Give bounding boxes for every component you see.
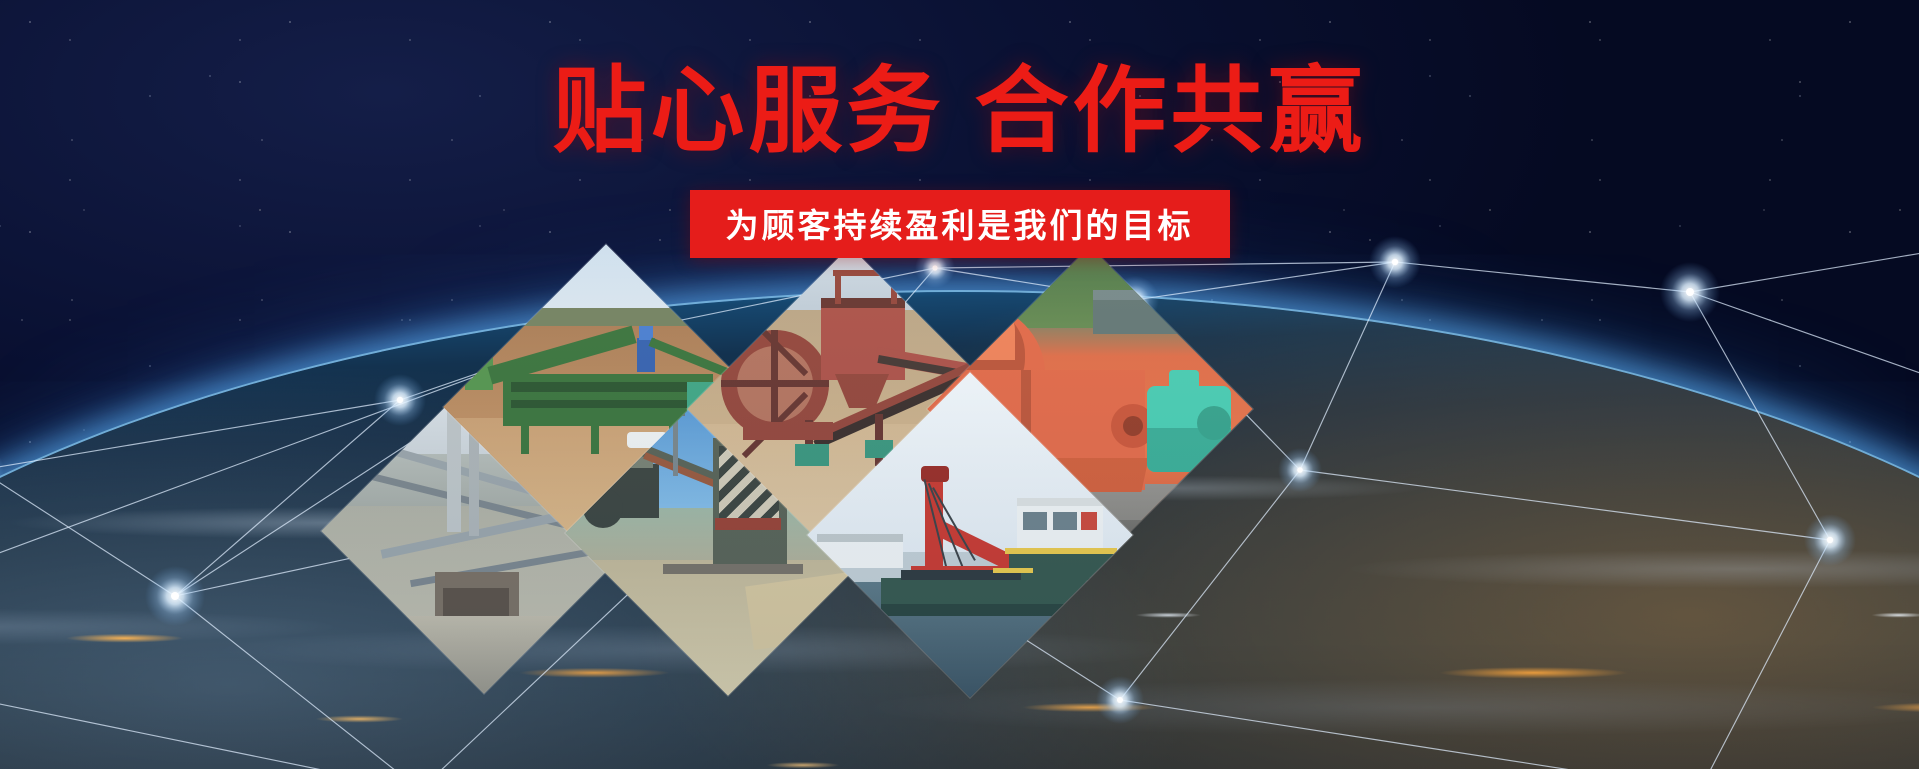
banner-subtitle: 为顾客持续盈利是我们的目标 xyxy=(690,190,1230,258)
hero-banner: 贴心服务合作共赢 为顾客持续盈利是我们的目标 xyxy=(0,0,1919,769)
headline-line-2: 合作共赢 xyxy=(975,57,1367,166)
headline-line-1: 贴心服务 xyxy=(552,57,944,166)
product-photo-collage xyxy=(355,248,1255,668)
banner-subtitle-wrap: 为顾客持续盈利是我们的目标 xyxy=(0,190,1919,258)
banner-headline: 贴心服务合作共赢 xyxy=(0,62,1919,162)
